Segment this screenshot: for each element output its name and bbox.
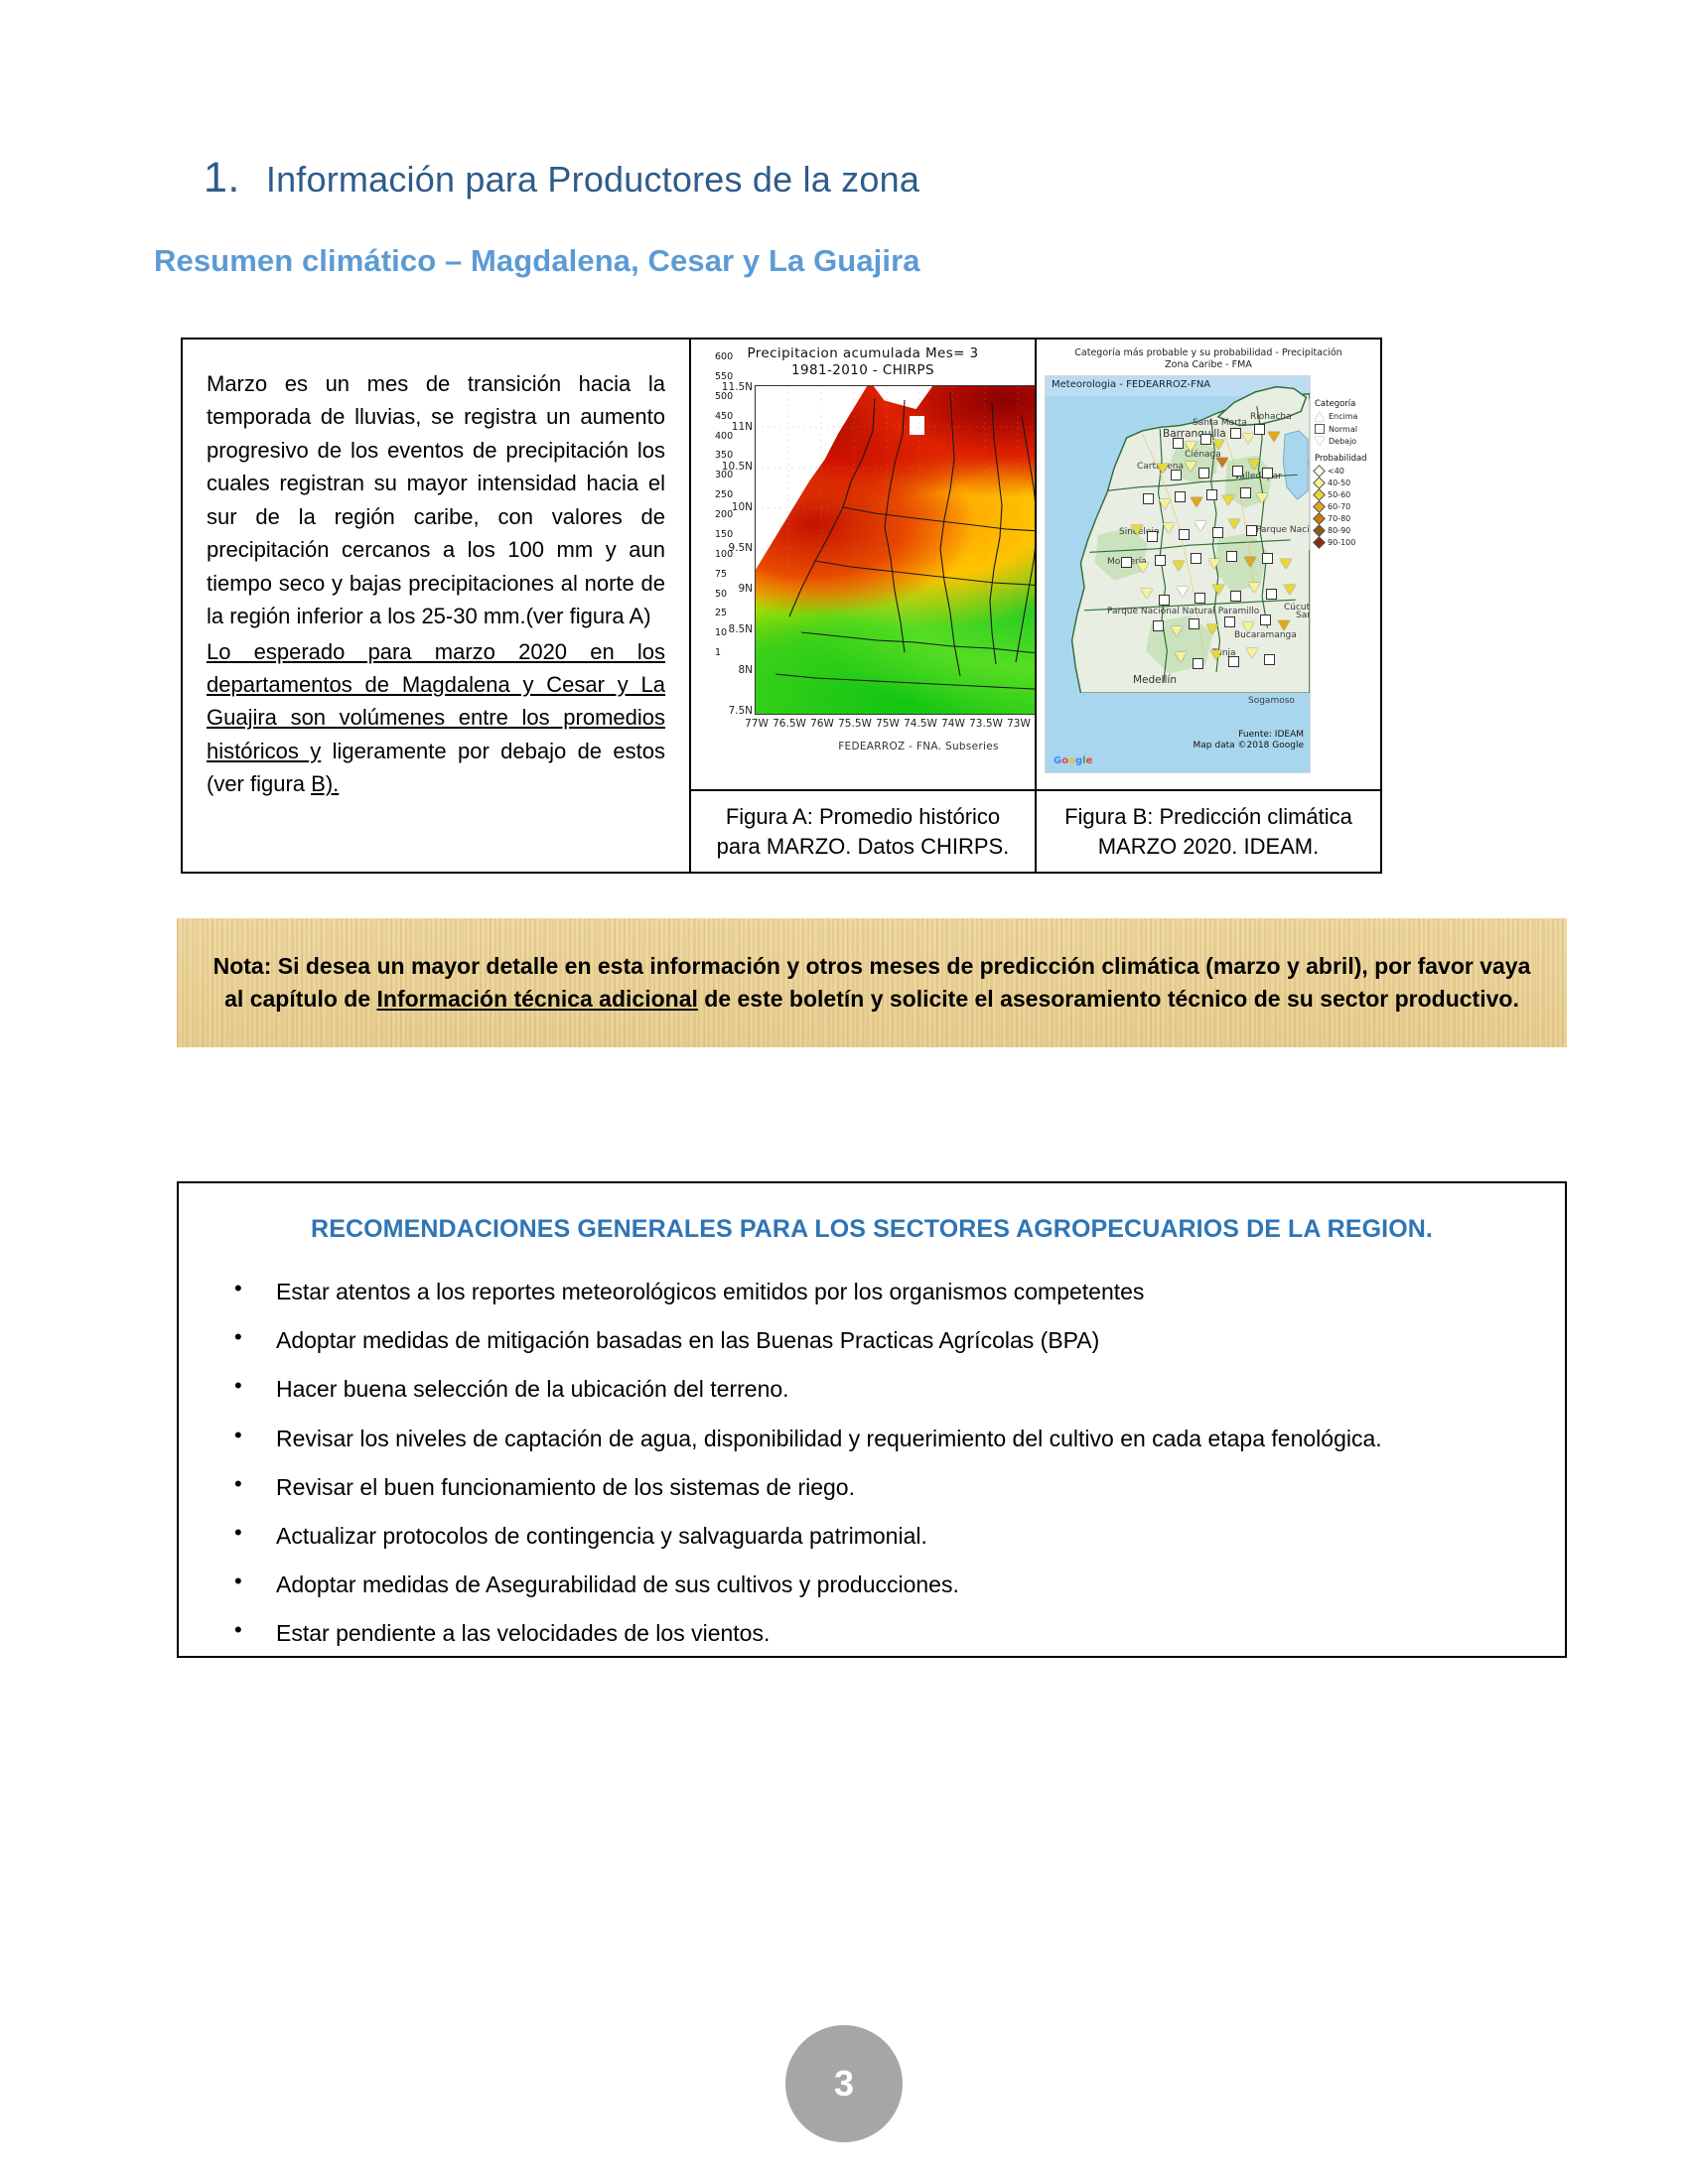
page-number: 3 <box>834 2063 854 2105</box>
figure-a-xtick-4: 75W <box>876 718 900 730</box>
station-marker-normal <box>1189 618 1199 629</box>
station-marker-normal <box>1195 593 1205 604</box>
station-marker-normal <box>1228 656 1239 667</box>
station-marker-normal <box>1262 553 1273 564</box>
station-marker-normal <box>1143 493 1154 504</box>
legend-probability-label: 50-60 <box>1328 490 1350 499</box>
climate-summary-table: Marzo es un mes de transición hacia la t… <box>181 338 1382 874</box>
chirps-precipitation-chart: Precipitacion acumulada Mes= 3 1981-2010… <box>691 340 1035 789</box>
colorbar-tick: 600 <box>715 351 733 362</box>
station-marker-normal <box>1226 551 1237 562</box>
legend-probability-label: 70-80 <box>1328 514 1350 523</box>
station-marker-below <box>1195 521 1206 531</box>
legend-diamond-icon <box>1313 465 1326 478</box>
recommendation-item: Estar atentos a los reportes meteorológi… <box>212 1276 1531 1307</box>
section-number: 1. <box>204 154 240 203</box>
legend-category-label: Debajo <box>1329 437 1356 446</box>
figure-a-image: Precipitacion acumulada Mes= 3 1981-2010… <box>691 340 1035 791</box>
station-marker-normal <box>1266 589 1277 600</box>
station-marker-below <box>1278 620 1290 630</box>
legend-probability-title: Probabilidad <box>1315 454 1376 464</box>
figure-a-xtick-0: 77W <box>745 718 769 730</box>
figure-a-cell: Precipitacion acumulada Mes= 3 1981-2010… <box>691 340 1037 872</box>
legend-triangle-up-icon <box>1315 412 1325 421</box>
figure-b-source-text: Fuente: IDEAM <box>1194 730 1305 742</box>
legend-probability-label: <40 <box>1328 467 1344 476</box>
station-marker-below <box>1206 624 1218 634</box>
station-marker-normal <box>1153 620 1164 631</box>
station-marker-below <box>1284 585 1296 595</box>
station-marker-normal <box>1232 466 1243 477</box>
figure-a-ytick-8: 7.5N <box>697 705 753 717</box>
legend-square-icon <box>1315 424 1325 434</box>
note-text-after: de este boletín y solicite el asesoramie… <box>698 986 1519 1012</box>
station-marker-below <box>1185 442 1196 452</box>
colorbar-tick: 500 <box>715 391 733 402</box>
legend-probability-row: 70-80 <box>1315 514 1376 523</box>
legend-probability-row: 40-50 <box>1315 478 1376 487</box>
legend-diamond-icon <box>1313 512 1326 525</box>
colorbar-tick: 1 <box>715 647 721 658</box>
recommendations-box: RECOMENDACIONES GENERALES PARA LOS SECTO… <box>177 1181 1567 1658</box>
figure-a-xtick-7: 73.5W <box>969 718 1003 730</box>
station-marker-normal <box>1171 470 1182 480</box>
station-marker-normal <box>1260 614 1271 625</box>
legend-category-label: Encima <box>1329 412 1357 421</box>
station-marker-below <box>1244 557 1256 567</box>
figure-a-xtick-3: 75.5W <box>838 718 872 730</box>
section-title: Información para Productores de la zona <box>266 159 919 201</box>
legend-probability-row: 50-60 <box>1315 490 1376 499</box>
station-marker-normal <box>1200 434 1211 445</box>
recommendations-list: Estar atentos a los reportes meteorológi… <box>212 1276 1531 1650</box>
recommendation-item: Estar pendiente a las velocidades de los… <box>212 1617 1531 1649</box>
legend-probability-label: 60-70 <box>1328 502 1350 511</box>
colorbar-tick: 400 <box>715 431 733 442</box>
city-label-medellin: Medellín <box>1133 674 1177 686</box>
recommendation-item: Revisar los niveles de captación de agua… <box>212 1423 1531 1454</box>
legend-triangle-down-icon <box>1315 437 1325 446</box>
station-marker-below <box>1280 559 1292 569</box>
figure-b-header-line2: Zona Caribe - FMA <box>1037 359 1380 371</box>
note-label: Nota: <box>213 953 272 979</box>
station-marker-below <box>1210 650 1222 660</box>
legend-probability-label: 80-90 <box>1328 526 1350 535</box>
station-marker-normal <box>1191 553 1201 564</box>
legend-diamond-icon <box>1313 488 1326 501</box>
recommendation-item: Hacer buena selección de la ubicación de… <box>212 1373 1531 1405</box>
station-marker-below <box>1242 434 1254 444</box>
recommendation-item: Adoptar medidas de mitigación basadas en… <box>212 1324 1531 1356</box>
legend-category-label: Normal <box>1329 425 1357 434</box>
station-marker-normal <box>1264 654 1275 665</box>
legend-category-row: Encima <box>1315 412 1376 421</box>
figure-b-map-attribution: Map data ©2018 Google <box>1194 741 1305 752</box>
station-marker-below <box>1171 626 1183 636</box>
station-marker-normal <box>1230 591 1241 602</box>
legend-category-row: Normal <box>1315 424 1376 434</box>
station-marker-below <box>1248 583 1260 593</box>
figure-a-xtick-1: 76.5W <box>773 718 806 730</box>
station-marker-normal <box>1155 555 1166 566</box>
colorbar-tick: 300 <box>715 470 733 480</box>
note-emphasis: Información técnica adicional <box>377 986 698 1012</box>
station-marker-below <box>1163 523 1175 533</box>
colorbar-tick: 100 <box>715 549 733 560</box>
legend-probability-row: 80-90 <box>1315 526 1376 535</box>
legend-diamond-icon <box>1313 477 1326 489</box>
station-marker-below <box>1212 440 1224 450</box>
summary-paragraph-1: Marzo es un mes de transición hacia la t… <box>207 367 665 633</box>
colorbar-tick: 10 <box>715 627 727 638</box>
station-marker-normal <box>1198 468 1209 478</box>
station-marker-below <box>1228 519 1240 529</box>
station-marker-normal <box>1240 487 1251 498</box>
figure-a-ytick-7: 8N <box>697 664 753 676</box>
document-page: 1. Información para Productores de la zo… <box>0 0 1688 2184</box>
section-subtitle: Resumen climático – Magdalena, Cesar y L… <box>154 243 920 279</box>
recommendations-title: RECOMENDACIONES GENERALES PARA LOS SECTO… <box>212 1215 1531 1244</box>
city-label-parque-perija: Parque Nacional Perijá <box>1256 525 1311 535</box>
figure-b-cell: Categoría más probable y su probabilidad… <box>1037 340 1380 872</box>
station-marker-below <box>1208 559 1220 569</box>
colorbar-tick: 550 <box>715 371 733 382</box>
legend-diamond-icon <box>1313 536 1326 549</box>
station-marker-below <box>1248 460 1260 470</box>
station-marker-normal <box>1246 525 1257 536</box>
note-box: Nota: Si desea un mayor detalle en esta … <box>177 918 1567 1047</box>
station-marker-below <box>1177 587 1189 597</box>
city-label-san-cristobal: San Cristobal <box>1296 611 1311 620</box>
station-marker-below <box>1141 589 1153 599</box>
station-marker-below <box>1185 462 1196 472</box>
figure-b-map-canvas: Meteorologia - FEDEARROZ-FNA <box>1045 375 1311 773</box>
figure-a-department-borders <box>756 386 1035 714</box>
station-marker-below <box>1131 525 1143 535</box>
station-marker-normal <box>1159 595 1170 606</box>
station-marker-below <box>1175 652 1187 662</box>
station-marker-below <box>1216 458 1228 468</box>
station-marker-below <box>1256 493 1268 503</box>
station-marker-normal <box>1173 438 1184 449</box>
station-marker-normal <box>1206 489 1217 500</box>
figure-b-source: Fuente: IDEAM Map data ©2018 Google <box>1194 730 1305 752</box>
station-marker-normal <box>1262 468 1273 478</box>
city-label-riohacha: Riohacha <box>1250 412 1292 422</box>
legend-diamond-icon <box>1313 500 1326 513</box>
figure-a-xtick-8: 73W <box>1007 718 1031 730</box>
figure-b-image: Categoría más probable y su probabilidad… <box>1037 340 1380 791</box>
legend-category-row: Debajo <box>1315 437 1376 446</box>
recommendation-item: Adoptar medidas de Asegurabilidad de sus… <box>212 1569 1531 1600</box>
station-marker-below <box>1157 464 1169 474</box>
legend-category-title: Categoría <box>1315 399 1376 409</box>
summary-paragraph-2: Lo esperado para marzo 2020 en los depar… <box>207 635 665 801</box>
colorbar-tick: 350 <box>715 450 733 461</box>
figure-a-plot-area <box>755 385 1035 715</box>
legend-probability-row: <40 <box>1315 467 1376 476</box>
station-marker-below <box>1242 622 1254 632</box>
colorbar-tick: 450 <box>715 411 733 422</box>
ideam-forecast-map: Categoría más probable y su probabilidad… <box>1037 340 1380 789</box>
station-marker-below <box>1212 585 1224 595</box>
legend-diamond-icon <box>1313 524 1326 537</box>
legend-probability-rows: <4040-5050-6060-7070-8080-9090-100 <box>1315 467 1376 547</box>
figure-b-header: Categoría más probable y su probabilidad… <box>1037 347 1380 372</box>
station-marker-normal <box>1179 529 1190 540</box>
google-logo: Google <box>1054 755 1092 766</box>
legend-category-rows: EncimaNormalDebajo <box>1315 412 1376 446</box>
figure-a-xtick-2: 76W <box>810 718 834 730</box>
city-label-parque-paramillo: Parque Nacional Natural Paramillo <box>1107 607 1259 616</box>
figure-b-legend: Categoría EncimaNormalDebajo Probabilida… <box>1309 399 1376 550</box>
recommendation-item: Revisar el buen funcionamiento de los si… <box>212 1471 1531 1503</box>
station-marker-normal <box>1193 658 1203 669</box>
colorbar-tick: 250 <box>715 489 733 500</box>
station-marker-below <box>1246 648 1258 658</box>
station-marker-normal <box>1121 557 1132 568</box>
station-marker-normal <box>1212 527 1223 538</box>
city-label-santa-marta: Santa Marta <box>1193 418 1247 428</box>
colorbar-tick: 200 <box>715 509 733 520</box>
figure-a-source-note: FEDEARROZ - FNA. Subseries <box>755 741 1035 752</box>
station-marker-below <box>1137 563 1149 573</box>
recommendation-item: Actualizar protocolos de contingencia y … <box>212 1520 1531 1552</box>
station-marker-below <box>1191 497 1202 507</box>
station-marker-normal <box>1147 531 1158 542</box>
legend-probability-label: 90-100 <box>1328 538 1355 547</box>
colorbar-tick: 75 <box>715 569 727 580</box>
legend-probability-row: 90-100 <box>1315 538 1376 547</box>
legend-probability-row: 60-70 <box>1315 502 1376 511</box>
figure-b-header-line1: Categoría más probable y su probabilidad… <box>1037 347 1380 359</box>
station-marker-below <box>1159 499 1171 509</box>
figure-b-caption: Figura B: Predicción climática MARZO 202… <box>1037 791 1380 872</box>
figure-a-caption: Figura A: Promedio histórico para MARZO.… <box>691 791 1035 872</box>
colorbar-tick: 50 <box>715 589 727 600</box>
station-marker-below <box>1268 432 1280 442</box>
station-marker-normal <box>1224 616 1235 627</box>
note-text: Nota: Si desea un mayor detalle en esta … <box>207 950 1537 1015</box>
station-marker-below <box>1222 495 1234 505</box>
colorbar-tick: 150 <box>715 529 733 540</box>
station-marker-normal <box>1254 424 1265 435</box>
station-marker-below <box>1173 561 1185 571</box>
figure-a-xtick-5: 74.5W <box>904 718 937 730</box>
summary-paragraph-2-tail: B). <box>311 771 339 796</box>
page-number-badge: 3 <box>785 2025 903 2142</box>
figure-a-xtick-6: 74W <box>941 718 965 730</box>
colorbar-tick-labels: 6005505004504003503002502001501007550251… <box>715 349 755 665</box>
station-marker-normal <box>1175 491 1186 502</box>
station-marker-normal <box>1230 428 1241 439</box>
colorbar-tick: 25 <box>715 608 727 618</box>
summary-text-cell: Marzo es un mes de transición hacia la t… <box>183 340 691 872</box>
page-title: 1. Información para Productores de la zo… <box>204 154 919 203</box>
legend-probability-label: 40-50 <box>1328 478 1350 487</box>
city-label-sogamoso: Sogamoso <box>1248 696 1295 706</box>
